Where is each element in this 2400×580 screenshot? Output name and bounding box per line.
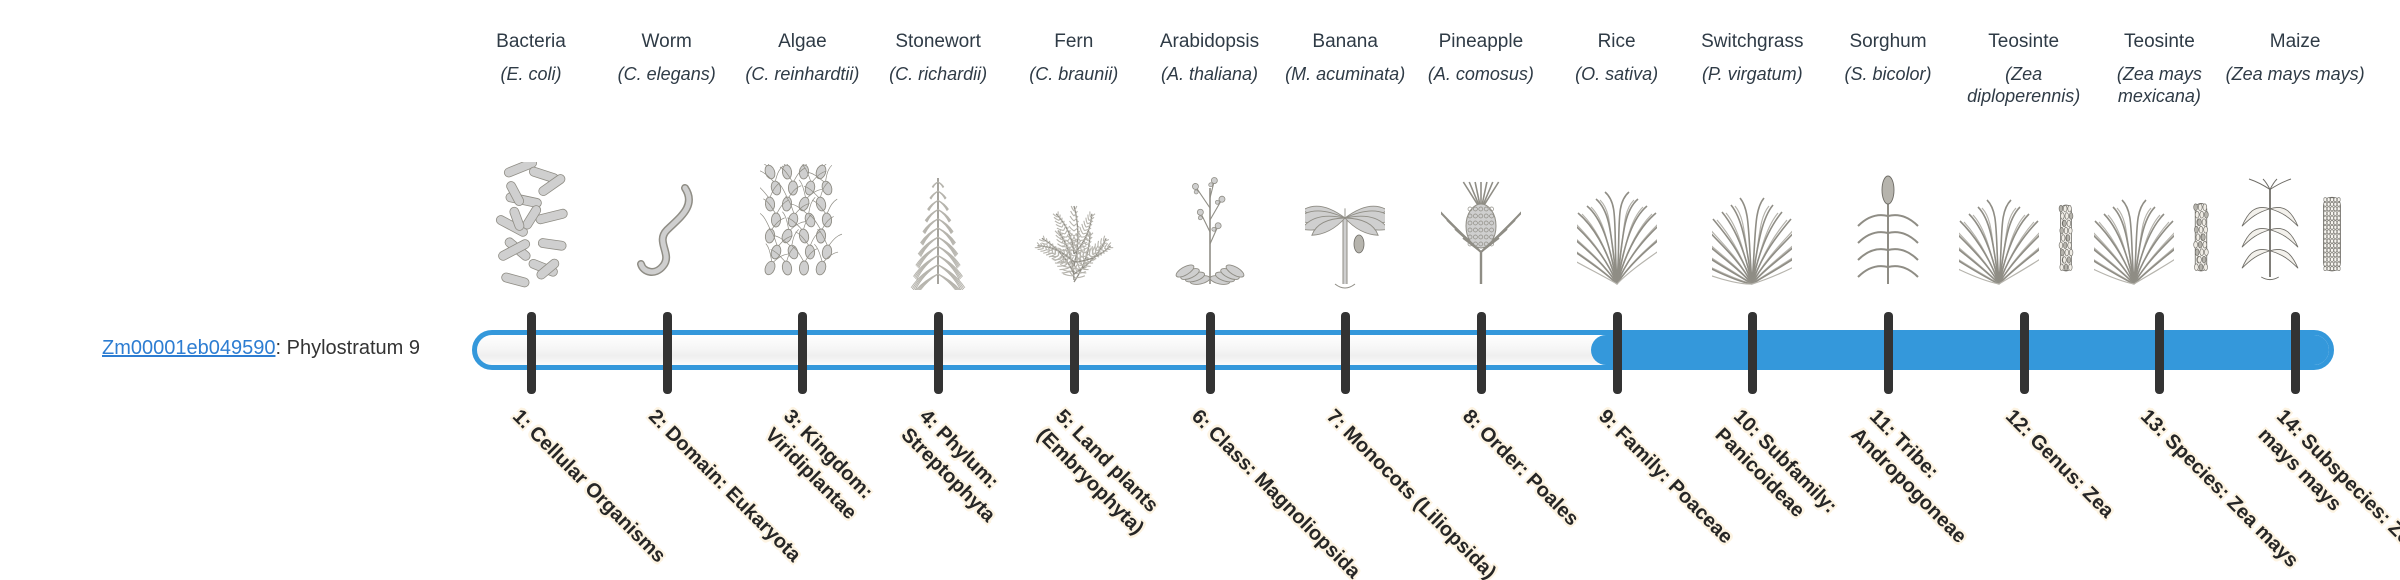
species-common-name: Pineapple [1406, 30, 1556, 53]
species-common-name: Sorghum [1813, 30, 1963, 53]
species-scientific-name: (A. comosus) [1406, 63, 1556, 85]
stonewort-icon [868, 175, 1008, 290]
species-scientific-name: (C. reinhardtii) [727, 63, 877, 85]
species-common-name: Switchgrass [1677, 30, 1827, 53]
phylostratum-progress-fill [1591, 335, 2329, 365]
species-scientific-name: (E. coli) [456, 63, 606, 85]
species-scientific-name: (O. sativa) [1542, 63, 1692, 85]
species-common-name: Teosinte [1949, 30, 2099, 53]
timeline-tick-5 [1070, 312, 1079, 394]
timeline-tick-14 [2291, 312, 2300, 394]
phylostratum-progress-track[interactable] [472, 330, 2334, 370]
species-column: Teosinte(Zea mays mexicana) [2084, 30, 2234, 107]
species-common-name: Maize [2220, 30, 2370, 53]
timeline-tick-7 [1341, 312, 1350, 394]
teosinte-mexicana-icon [2089, 175, 2229, 290]
species-scientific-name: (Zea mays mays) [2220, 63, 2370, 85]
species-column: Fern(C. braunii) [999, 30, 1149, 85]
timeline-tick-9 [1613, 312, 1622, 394]
timeline-tick-12 [2020, 312, 2029, 394]
teosinte-diploperennis-icon [1954, 175, 2094, 290]
timeline-tick-13 [2155, 312, 2164, 394]
species-scientific-name: (Zea diploperennis) [1949, 63, 2099, 107]
timeline-tick-2 [663, 312, 672, 394]
species-scientific-name: (M. acuminata) [1270, 63, 1420, 85]
species-column: Worm(C. elegans) [592, 30, 742, 85]
gene-id-link[interactable]: Zm00001eb049590 [102, 337, 275, 359]
species-column: Algae(C. reinhardtii) [727, 30, 877, 85]
timeline-tick-11 [1884, 312, 1893, 394]
species-column: Rice(O. sativa) [1542, 30, 1692, 85]
species-common-name: Worm [592, 30, 742, 53]
arabidopsis-icon [1140, 175, 1280, 290]
species-scientific-name: (C. elegans) [592, 63, 742, 85]
species-column: Pineapple(A. comosus) [1406, 30, 1556, 85]
species-column: Switchgrass(P. virgatum) [1677, 30, 1827, 85]
species-column: Arabidopsis(A. thaliana) [1135, 30, 1285, 85]
pineapple-icon [1411, 175, 1551, 290]
gene-label-separator: : [275, 337, 286, 359]
species-scientific-name: (P. virgatum) [1677, 63, 1827, 85]
maize-icon [2225, 175, 2365, 290]
species-column: Bacteria(E. coli) [456, 30, 606, 85]
species-column: Maize(Zea mays mays) [2220, 30, 2370, 85]
algae-icon [732, 175, 872, 290]
timeline-tick-3 [798, 312, 807, 394]
species-column: Teosinte(Zea diploperennis) [1949, 30, 2099, 107]
species-common-name: Rice [1542, 30, 1692, 53]
timeline-tick-4 [934, 312, 943, 394]
species-common-name: Bacteria [456, 30, 606, 53]
phylostratum-timeline: Zm00001eb049590: Phylostratum 9 Bacteria… [0, 0, 2400, 580]
species-scientific-name: (C. richardii) [863, 63, 1013, 85]
species-common-name: Algae [727, 30, 877, 53]
species-scientific-name: (Zea mays mexicana) [2084, 63, 2234, 107]
species-common-name: Fern [999, 30, 1149, 53]
switchgrass-icon [1682, 175, 1822, 290]
species-scientific-name: (A. thaliana) [1135, 63, 1285, 85]
species-common-name: Stonewort [863, 30, 1013, 53]
phylostratum-value-text: Phylostratum 9 [287, 337, 420, 359]
species-column: Banana(M. acuminata) [1270, 30, 1420, 85]
worm-icon [597, 175, 737, 290]
timeline-tick-6 [1206, 312, 1215, 394]
species-common-name: Arabidopsis [1135, 30, 1285, 53]
species-common-name: Banana [1270, 30, 1420, 53]
timeline-tick-10 [1748, 312, 1757, 394]
gene-phylostratum-label: Zm00001eb049590: Phylostratum 9 [40, 336, 420, 360]
sorghum-icon [1818, 175, 1958, 290]
rice-icon [1547, 175, 1687, 290]
banana-icon [1275, 175, 1415, 290]
species-column: Sorghum(S. bicolor) [1813, 30, 1963, 85]
species-common-name: Teosinte [2084, 30, 2234, 53]
bacteria-icon [461, 175, 601, 290]
timeline-tick-1 [527, 312, 536, 394]
species-scientific-name: (S. bicolor) [1813, 63, 1963, 85]
fern-icon [1004, 175, 1144, 290]
species-column: Stonewort(C. richardii) [863, 30, 1013, 85]
timeline-tick-8 [1477, 312, 1486, 394]
species-scientific-name: (C. braunii) [999, 63, 1149, 85]
